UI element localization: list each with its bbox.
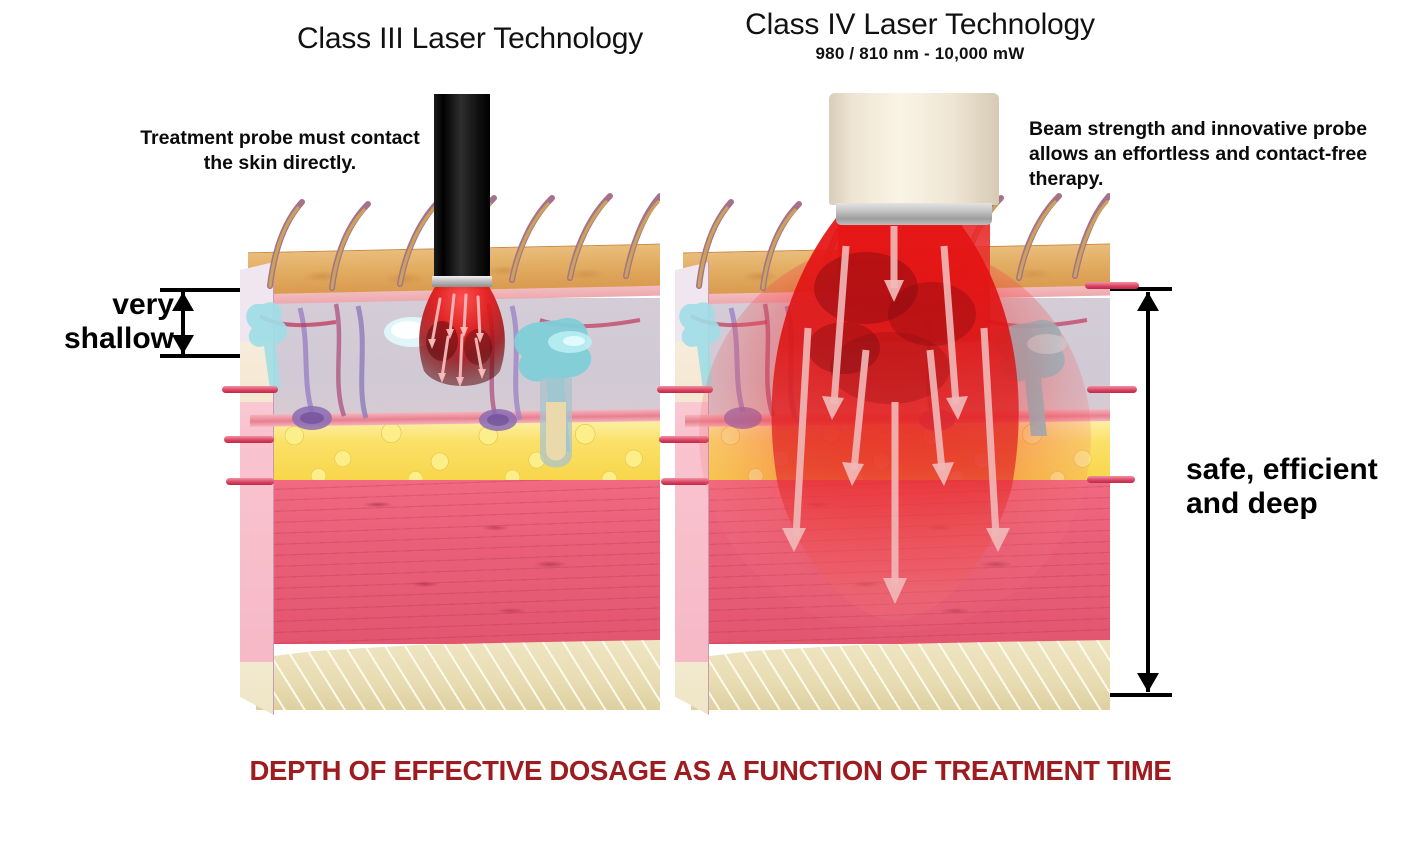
arrow-up-icon [1137,292,1159,311]
cut-face [240,262,274,715]
arrow-down-icon [172,335,194,354]
note-class-iii: Treatment probe must contact the skin di… [130,126,430,176]
capillary-stub [224,436,274,443]
arrow-up-icon [172,292,194,311]
depth-arrow-shaft-right [1146,292,1150,692]
layer-muscle [268,478,660,644]
layer-bone [256,640,660,710]
class-iv-probe-collar [836,203,992,225]
capillary-stub [1087,476,1135,483]
layer-dermis [703,298,1110,416]
capillary-stub [226,478,274,485]
note-class-iv: Beam strength and innovative probe allow… [1029,117,1409,192]
panel-title-class-iv: Class IV Laser Technology [690,8,1150,42]
class-iii-probe-tip [432,276,492,287]
layer-dermis [268,298,660,416]
panel-subtitle-class-iv: 980 / 810 nm - 10,000 mW [690,44,1150,64]
capillary-stub [657,386,713,393]
layer-bone [691,640,1110,710]
depth-label-deep: safe, efficient and deep [1186,453,1421,521]
class-iii-laser-probe[interactable] [434,94,490,282]
bottom-banner-title: DEPTH OF EFFECTIVE DOSAGE AS A FUNCTION … [0,755,1421,787]
layer-muscle [703,478,1110,644]
layer-fat [268,420,660,480]
layer-epidermis [683,244,1110,295]
capillary-stub [661,478,709,485]
diagram-canvas: Class III Laser Technology Class IV Lase… [0,0,1421,841]
capillary-stub [1087,386,1137,393]
capillary-stub [659,436,709,443]
layer-fat [703,420,1110,480]
capillary-stub [1085,282,1139,289]
depth-label-shallow: very shallow [44,288,174,356]
capillary-stub [222,386,278,393]
class-iv-laser-probe[interactable] [829,93,999,205]
arrow-down-icon [1137,673,1159,692]
panel-title-class-iii: Class III Laser Technology [250,22,690,56]
skin-cross-section-class-iv [675,190,1110,715]
cut-face [675,262,709,715]
